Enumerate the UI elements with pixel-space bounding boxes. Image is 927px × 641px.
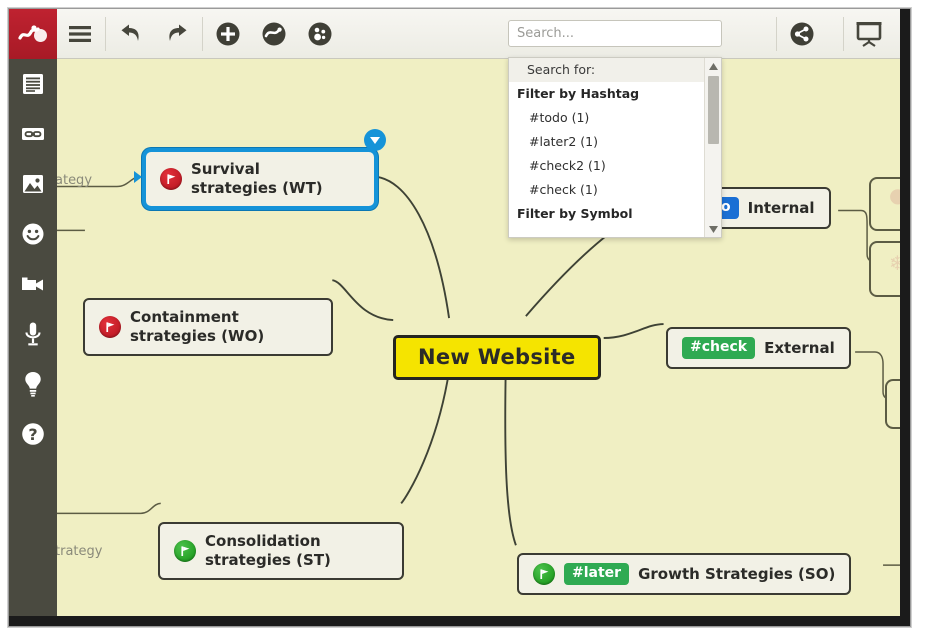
window-frame: Search for: Filter by Hashtag #todo (1) … xyxy=(8,8,911,627)
red-flag-icon xyxy=(99,316,121,338)
search-dropdown: Search for: Filter by Hashtag #todo (1) … xyxy=(508,57,722,238)
image-icon xyxy=(20,171,46,197)
node-label: Growth Strategies (SO) xyxy=(638,565,835,584)
hashtag-filter-item[interactable]: #check2 (1) xyxy=(509,154,704,178)
mindmap-canvas[interactable]: ategy trategy Survival strategies (WT) xyxy=(57,59,900,616)
node-growth[interactable]: #later Growth Strategies (SO) xyxy=(517,553,851,595)
presentation-screen-icon xyxy=(854,20,884,48)
faded-marker-icon: ❄ xyxy=(889,251,900,275)
sidebar-item-link[interactable] xyxy=(9,109,57,159)
sidebar-item-emoji[interactable] xyxy=(9,209,57,259)
hashtag-filter-item[interactable]: #todo (1) xyxy=(509,106,704,130)
node-connector-arrow xyxy=(134,171,142,183)
node-external[interactable]: #check External xyxy=(666,327,851,369)
lightbulb-icon xyxy=(20,370,46,398)
filter-group-hashtag-title: Filter by Hashtag xyxy=(509,82,704,106)
smiley-icon xyxy=(20,221,46,247)
node-partial-top-right[interactable]: ● xyxy=(869,177,900,231)
branch-circle-icon xyxy=(261,21,287,47)
app-logo[interactable] xyxy=(9,9,57,59)
node-label: Containment strategies (WO) xyxy=(130,308,264,346)
undo-arrow-icon xyxy=(117,22,145,46)
green-flag-icon xyxy=(174,540,196,562)
hamburger-icon xyxy=(67,24,93,44)
edge-label-partial: trategy xyxy=(57,544,102,559)
share-button[interactable] xyxy=(779,12,825,56)
edge-label-partial: ategy xyxy=(57,173,92,188)
link-icon xyxy=(20,121,46,147)
hashtag-badge[interactable]: #check xyxy=(682,337,755,359)
present-button[interactable] xyxy=(846,12,892,56)
faded-marker-icon: ● xyxy=(889,183,900,207)
svg-text:?: ? xyxy=(28,425,37,444)
node-central[interactable]: New Website xyxy=(393,335,601,380)
node-label: Consolidation strategies (ST) xyxy=(205,532,331,570)
toolbar-divider xyxy=(843,17,844,51)
scrollbar-thumb[interactable] xyxy=(708,76,719,144)
video-camera-icon xyxy=(19,271,47,297)
node-consolidation[interactable]: Consolidation strategies (ST) xyxy=(158,522,404,580)
frame-edge-bottom xyxy=(9,616,910,626)
add-node-button[interactable] xyxy=(205,12,251,56)
search-results-list: Search for: Filter by Hashtag #todo (1) … xyxy=(509,58,704,237)
menu-button[interactable] xyxy=(57,12,103,56)
toolbar-divider xyxy=(202,17,203,51)
node-label: Survival strategies (WT) xyxy=(191,160,323,198)
notes-icon xyxy=(20,71,46,97)
undo-button[interactable] xyxy=(108,12,154,56)
node-containment[interactable]: Containment strategies (WO) xyxy=(83,298,333,356)
dropdown-scrollbar[interactable] xyxy=(704,58,721,237)
style-button[interactable] xyxy=(297,12,343,56)
search-area: Search for: Filter by Hashtag #todo (1) … xyxy=(508,20,722,47)
sidebar-item-audio[interactable] xyxy=(9,309,57,359)
node-label: External xyxy=(764,339,835,358)
scroll-down-arrow-icon[interactable] xyxy=(705,221,722,237)
node-collapse-handle[interactable] xyxy=(364,129,386,151)
search-for-header: Search for: xyxy=(509,58,704,82)
node-label: Internal xyxy=(748,199,815,218)
sidebar-item-video[interactable] xyxy=(9,259,57,309)
red-flag-icon xyxy=(160,168,182,190)
scroll-up-arrow-icon[interactable] xyxy=(705,58,722,74)
sidebar-item-help[interactable]: ? xyxy=(9,409,57,459)
share-circle-icon xyxy=(789,21,815,47)
node-partial-mid-right[interactable] xyxy=(885,379,900,429)
search-input[interactable] xyxy=(508,20,722,47)
application-window: Search for: Filter by Hashtag #todo (1) … xyxy=(0,0,927,641)
redo-arrow-icon xyxy=(163,22,191,46)
frame-edge-right xyxy=(900,9,910,626)
hashtag-badge[interactable]: #later xyxy=(564,563,629,585)
hashtag-filter-item[interactable]: #later2 (1) xyxy=(509,130,704,154)
plus-circle-icon xyxy=(215,21,241,47)
green-flag-icon xyxy=(533,563,555,585)
toolbar-divider xyxy=(776,17,777,51)
sidebar-item-image[interactable] xyxy=(9,159,57,209)
filter-group-symbol-title: Filter by Symbol xyxy=(509,202,704,226)
toolbar-divider xyxy=(105,17,106,51)
left-sidebar: ? xyxy=(9,59,57,616)
palette-circle-icon xyxy=(307,21,333,47)
node-survival[interactable]: Survival strategies (WT) xyxy=(142,148,378,210)
branch-button[interactable] xyxy=(251,12,297,56)
hashtag-filter-item[interactable]: #check (1) xyxy=(509,178,704,202)
top-toolbar xyxy=(9,9,902,59)
redo-button[interactable] xyxy=(154,12,200,56)
central-node-label: New Website xyxy=(418,348,576,367)
microphone-icon xyxy=(20,320,46,348)
node-partial-right[interactable]: ❄ xyxy=(869,241,900,297)
sidebar-item-idea[interactable] xyxy=(9,359,57,409)
question-mark-icon: ? xyxy=(20,421,46,447)
chevron-down-icon xyxy=(370,137,380,144)
sidebar-item-notes[interactable] xyxy=(9,59,57,109)
